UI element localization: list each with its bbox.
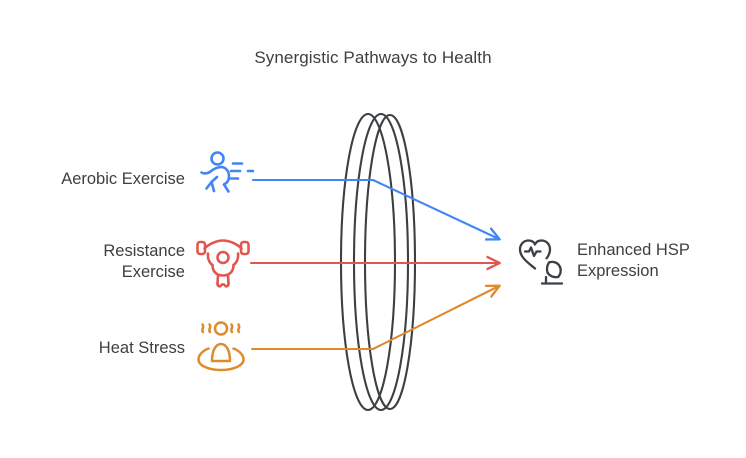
heat-stress-person-icon <box>191 316 251 374</box>
heart-pulse-bicep-icon <box>514 234 572 292</box>
weightlifter-icon <box>194 234 252 292</box>
arrow-aerobic <box>253 180 499 239</box>
diagram-graphics-layer <box>0 0 746 458</box>
node-label-resistance-exercise: Resistance Exercise <box>10 241 185 283</box>
diagram-canvas: Synergistic Pathways to Health Aerobic <box>0 0 746 458</box>
node-label-heat-stress: Heat Stress <box>10 338 185 359</box>
arrow-heat-stress <box>252 286 499 349</box>
node-label-aerobic-exercise: Aerobic Exercise <box>10 169 185 190</box>
running-person-icon <box>192 146 254 208</box>
node-label-enhanced-hsp-expression: Enhanced HSP Expression <box>577 240 742 282</box>
